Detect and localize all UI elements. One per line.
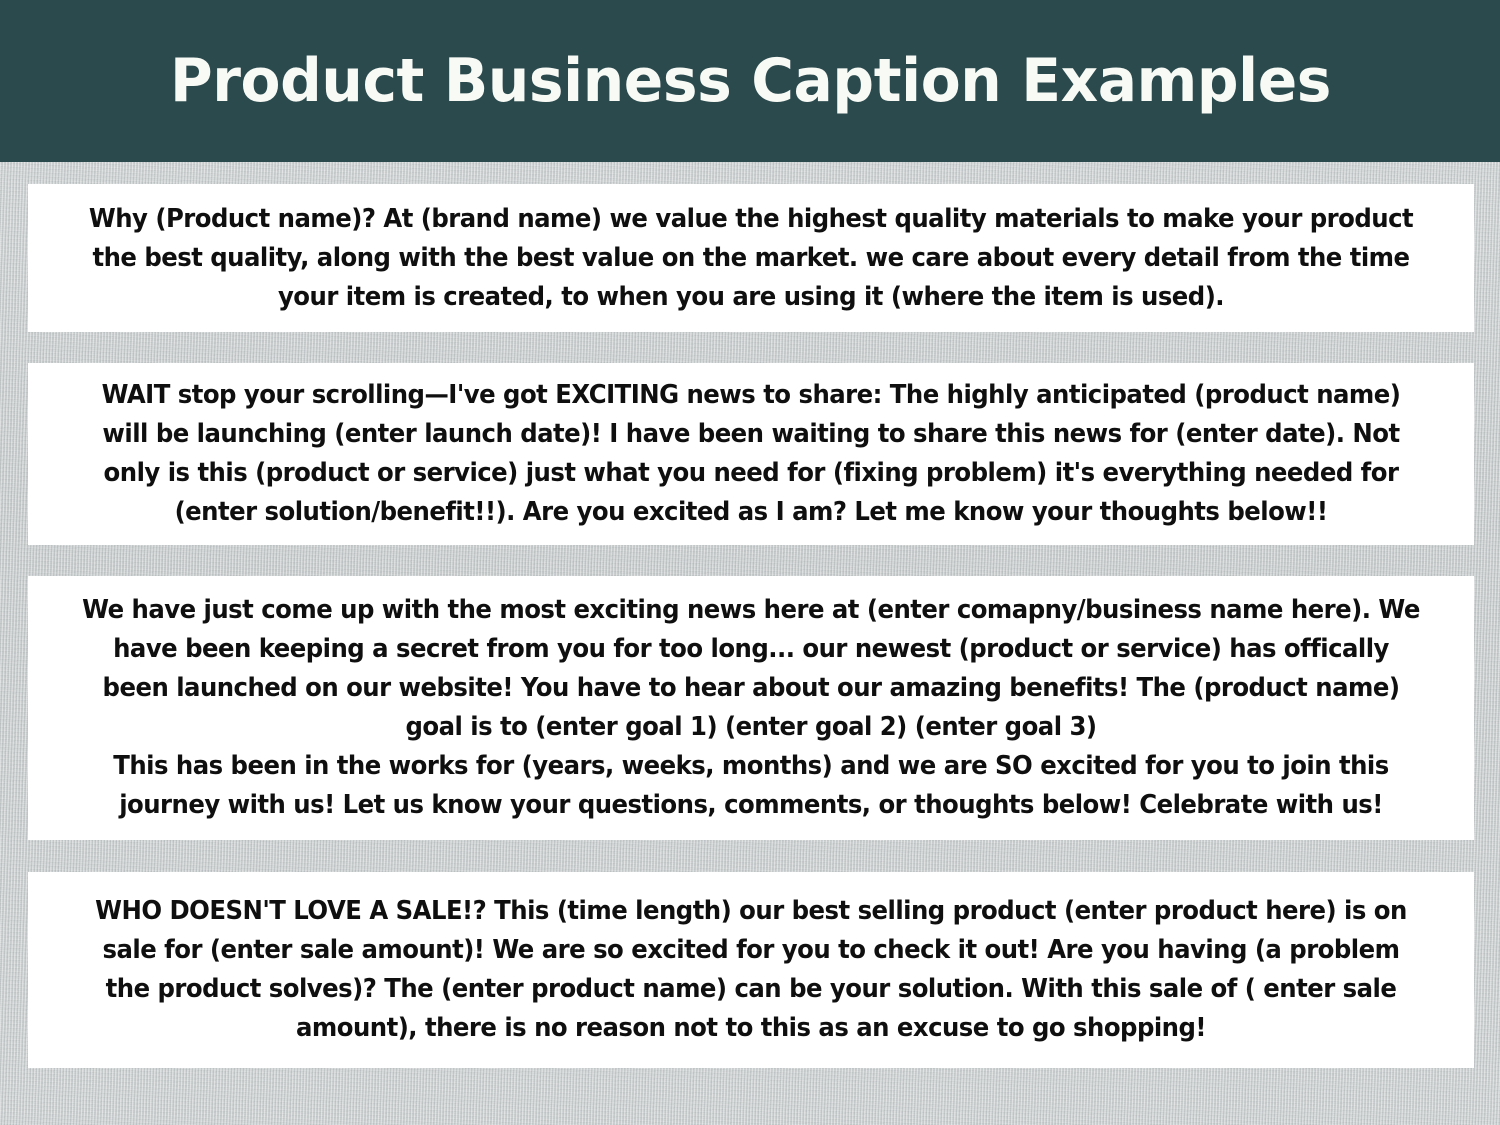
- caption-card-4: WHO DOESN'T LOVE A SALE!? This (time len…: [28, 872, 1474, 1068]
- caption-text-3: We have just come up with the most excit…: [61, 591, 1442, 825]
- slide-canvas: Product Business Caption Examples Why (P…: [0, 0, 1500, 1125]
- caption-text-1: Why (Product name)? At (brand name) we v…: [61, 200, 1442, 317]
- caption-card-1: Why (Product name)? At (brand name) we v…: [28, 184, 1474, 332]
- caption-card-list: Why (Product name)? At (brand name) we v…: [28, 184, 1474, 1068]
- caption-card-3: We have just come up with the most excit…: [28, 576, 1474, 840]
- slide-header-band: Product Business Caption Examples: [0, 0, 1500, 162]
- caption-card-2: WAIT stop your scrolling—I've got EXCITI…: [28, 363, 1474, 545]
- caption-text-4: WHO DOESN'T LOVE A SALE!? This (time len…: [61, 892, 1442, 1048]
- caption-text-2: WAIT stop your scrolling—I've got EXCITI…: [61, 376, 1442, 532]
- page-title: Product Business Caption Examples: [131, 50, 1370, 113]
